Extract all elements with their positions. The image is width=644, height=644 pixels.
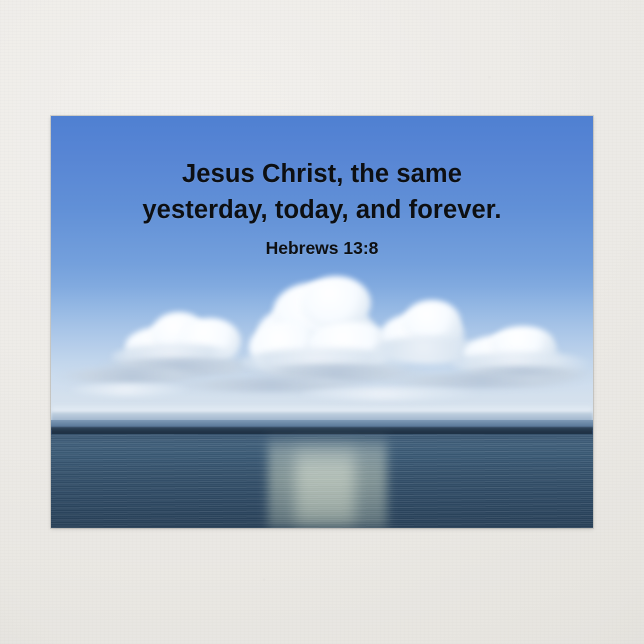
scripture-seascape-postcard[interactable]: Jesus Christ, the same yesterday, today,…	[51, 116, 593, 528]
verse-line-1: Jesus Christ, the same	[51, 156, 593, 192]
ocean	[51, 434, 593, 528]
verse-line-2: yesterday, today, and forever.	[51, 192, 593, 228]
sun-glint-core	[295, 440, 355, 528]
verse-text-block: Jesus Christ, the same yesterday, today,…	[51, 156, 593, 259]
verse-reference: Hebrews 13:8	[51, 237, 593, 259]
